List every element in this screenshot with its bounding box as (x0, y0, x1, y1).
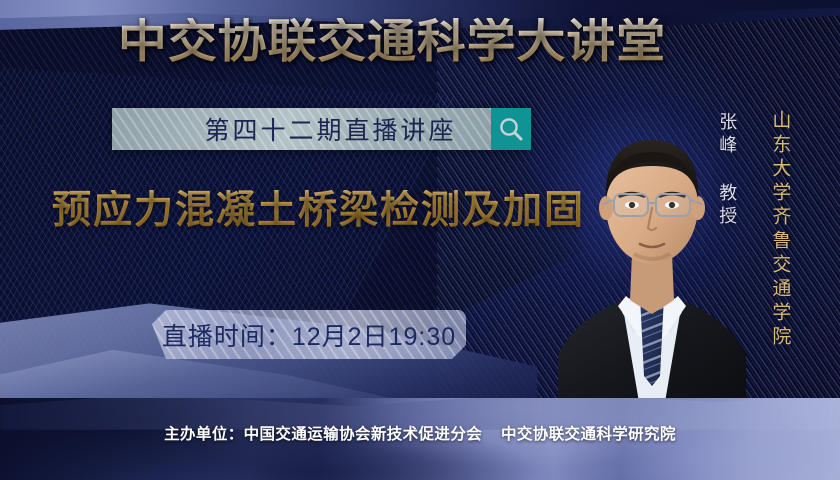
speaker-name-title: 张峰 教授 (716, 112, 737, 229)
episode-label: 第四十二期直播讲座 (146, 111, 456, 147)
webinar-poster: 中交协联交通科学大讲堂 中交协联交通科学大讲堂 第四十二期直播讲座 预应力混凝土… (0, 0, 840, 480)
episode-banner-body: 第四十二期直播讲座 (112, 108, 491, 150)
organizer-text: 主办单位：中国交通运输协会新技术促进分会 中交协联交通科学研究院 (0, 422, 840, 444)
footer-band: 主办单位：中国交通运输协会新技术促进分会 中交协联交通科学研究院 (0, 398, 840, 480)
main-title: 中交协联交通科学大讲堂 (118, 18, 666, 64)
speaker-affiliation: 山东大学齐鲁交通学院 (768, 110, 790, 350)
lecture-title: 预应力混凝土桥梁检测及加固 (52, 190, 585, 233)
episode-banner: 第四十二期直播讲座 (112, 108, 531, 150)
live-time-label: 直播时间：12月2日19:30 (162, 317, 456, 353)
live-time-banner: 直播时间：12月2日19:30 (152, 310, 466, 359)
search-icon[interactable] (491, 108, 531, 150)
